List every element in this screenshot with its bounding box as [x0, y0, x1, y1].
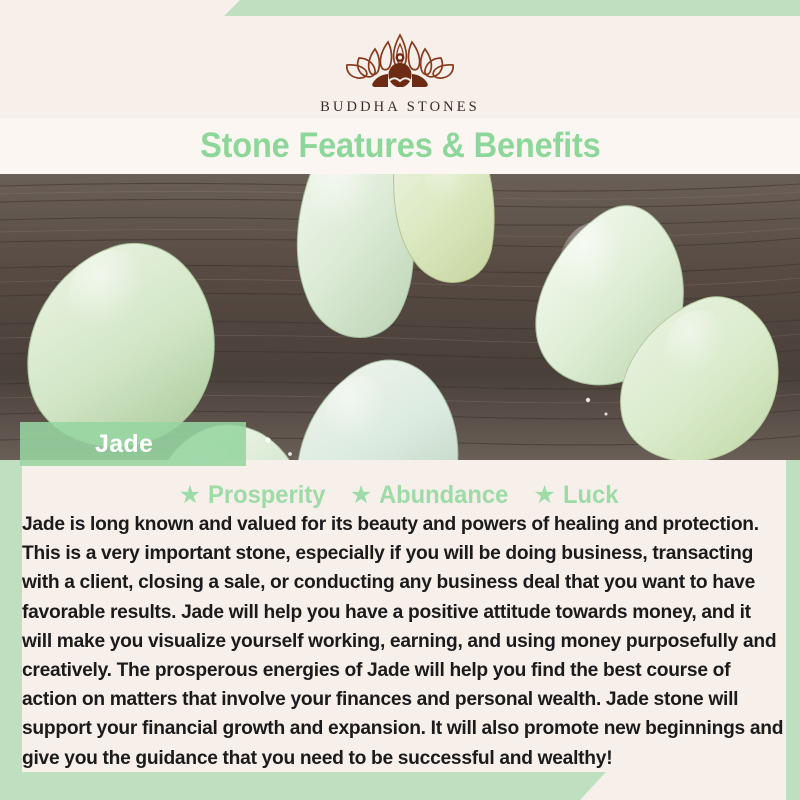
- decoration-bottom-band: [0, 772, 606, 800]
- brand-header-inner: BUDDHA STONES: [0, 16, 800, 124]
- benefit-label: Luck: [563, 483, 618, 508]
- stone-name-bar: Jade: [20, 422, 246, 466]
- title-band: Stone Features & Benefits: [0, 118, 800, 174]
- benefit-label: Prosperity: [208, 483, 325, 508]
- benefit-label: Abundance: [379, 483, 508, 508]
- benefit-item-abundance: ★ Abundance: [350, 483, 516, 508]
- benefit-item-prosperity: ★ Prosperity: [179, 483, 332, 508]
- brand-header: BUDDHA STONES: [0, 0, 800, 124]
- stone-description: Jade is long known and valued for its be…: [22, 510, 784, 773]
- decoration-right-lower-edge: [786, 610, 800, 800]
- stone-photo: [0, 172, 800, 460]
- description-block: Jade is long known and valued for its be…: [22, 510, 784, 773]
- lotus-meditation-icon: [325, 30, 475, 92]
- benefit-item-luck: ★ Luck: [533, 483, 621, 508]
- brand-name: BUDDHA STONES: [320, 99, 480, 116]
- stone-name-label: Jade: [95, 430, 153, 459]
- page-title: Stone Features & Benefits: [200, 126, 601, 166]
- star-icon: ★: [179, 483, 201, 508]
- star-icon: ★: [350, 483, 372, 508]
- star-icon: ★: [533, 483, 555, 508]
- benefits-row: ★ Prosperity ★ Abundance ★ Luck: [0, 477, 800, 513]
